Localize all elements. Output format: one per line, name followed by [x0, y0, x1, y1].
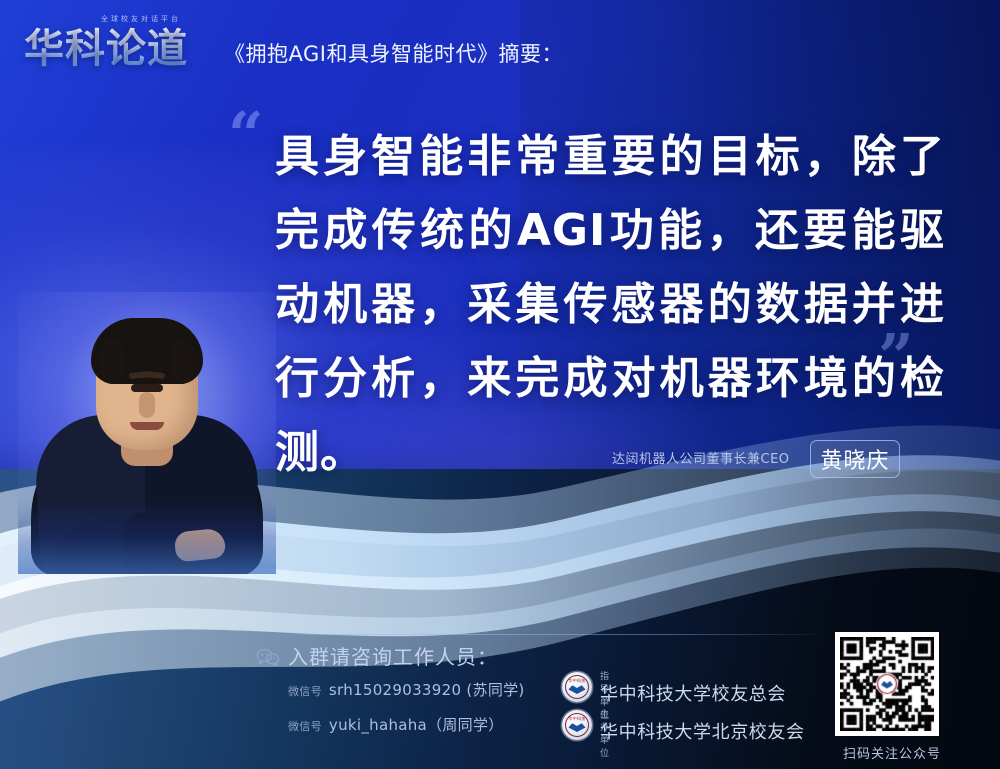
university-seal-icon: 华中科技大学	[562, 710, 592, 740]
header: 全球校友对话平台 华科论道 《拥抱AGI和具身智能时代》摘要：	[0, 0, 1000, 92]
quote-text: 具身智能非常重要的目标，除了完成传统的AGI功能，还要能驱动机器，采集传感器的数…	[275, 120, 945, 490]
logo-text: 华科论道	[24, 24, 214, 74]
quote-close-mark: ”	[878, 326, 914, 388]
contact-value: yuki_hahaha（周同学）	[329, 716, 504, 734]
footer-heading: 入群请咨询工作人员：	[288, 641, 498, 670]
footer-divider	[288, 634, 818, 635]
portrait-bottom-fade	[18, 500, 276, 574]
contact-row[interactable]: 微信号yuki_hahaha（周同学）	[288, 714, 504, 735]
qr-caption: 扫码关注公众号	[835, 743, 949, 762]
speaker-role: 达闼机器人公司董事长兼CEO	[612, 448, 790, 467]
poster-root: 全球校友对话平台 华科论道 《拥抱AGI和具身智能时代》摘要： “ 具身智能非常…	[0, 0, 1000, 769]
qr-section[interactable]: 扫码关注公众号	[835, 632, 949, 762]
quote-open-mark: “	[228, 104, 264, 166]
seal-arc-text: 华中科技大学	[567, 714, 587, 723]
contact-label: 微信号	[288, 685, 322, 698]
logo-tagline: 全球校友对话平台	[76, 14, 206, 24]
organization-name: 华中科技大学校友总会	[600, 680, 786, 706]
university-seal-icon: 华中科技大学	[562, 672, 592, 702]
organization-name: 华中科技大学北京校友会	[600, 718, 805, 744]
contact-value: srh15029033920 (苏同学)	[329, 681, 525, 699]
page-title: 《拥抱AGI和具身智能时代》摘要：	[224, 38, 563, 68]
speaker-name-badge: 黄晓庆	[810, 440, 900, 478]
wechat-icon	[256, 648, 280, 666]
speaker-portrait	[18, 292, 276, 574]
contact-label: 微信号	[288, 720, 322, 733]
seal-arc-text: 华中科技大学	[567, 676, 587, 685]
contact-row[interactable]: 微信号srh15029033920 (苏同学)	[288, 679, 525, 700]
brand-logo[interactable]: 全球校友对话平台 华科论道	[24, 14, 214, 76]
speaker-name: 黄晓庆	[820, 443, 889, 475]
qr-code[interactable]	[835, 632, 939, 736]
